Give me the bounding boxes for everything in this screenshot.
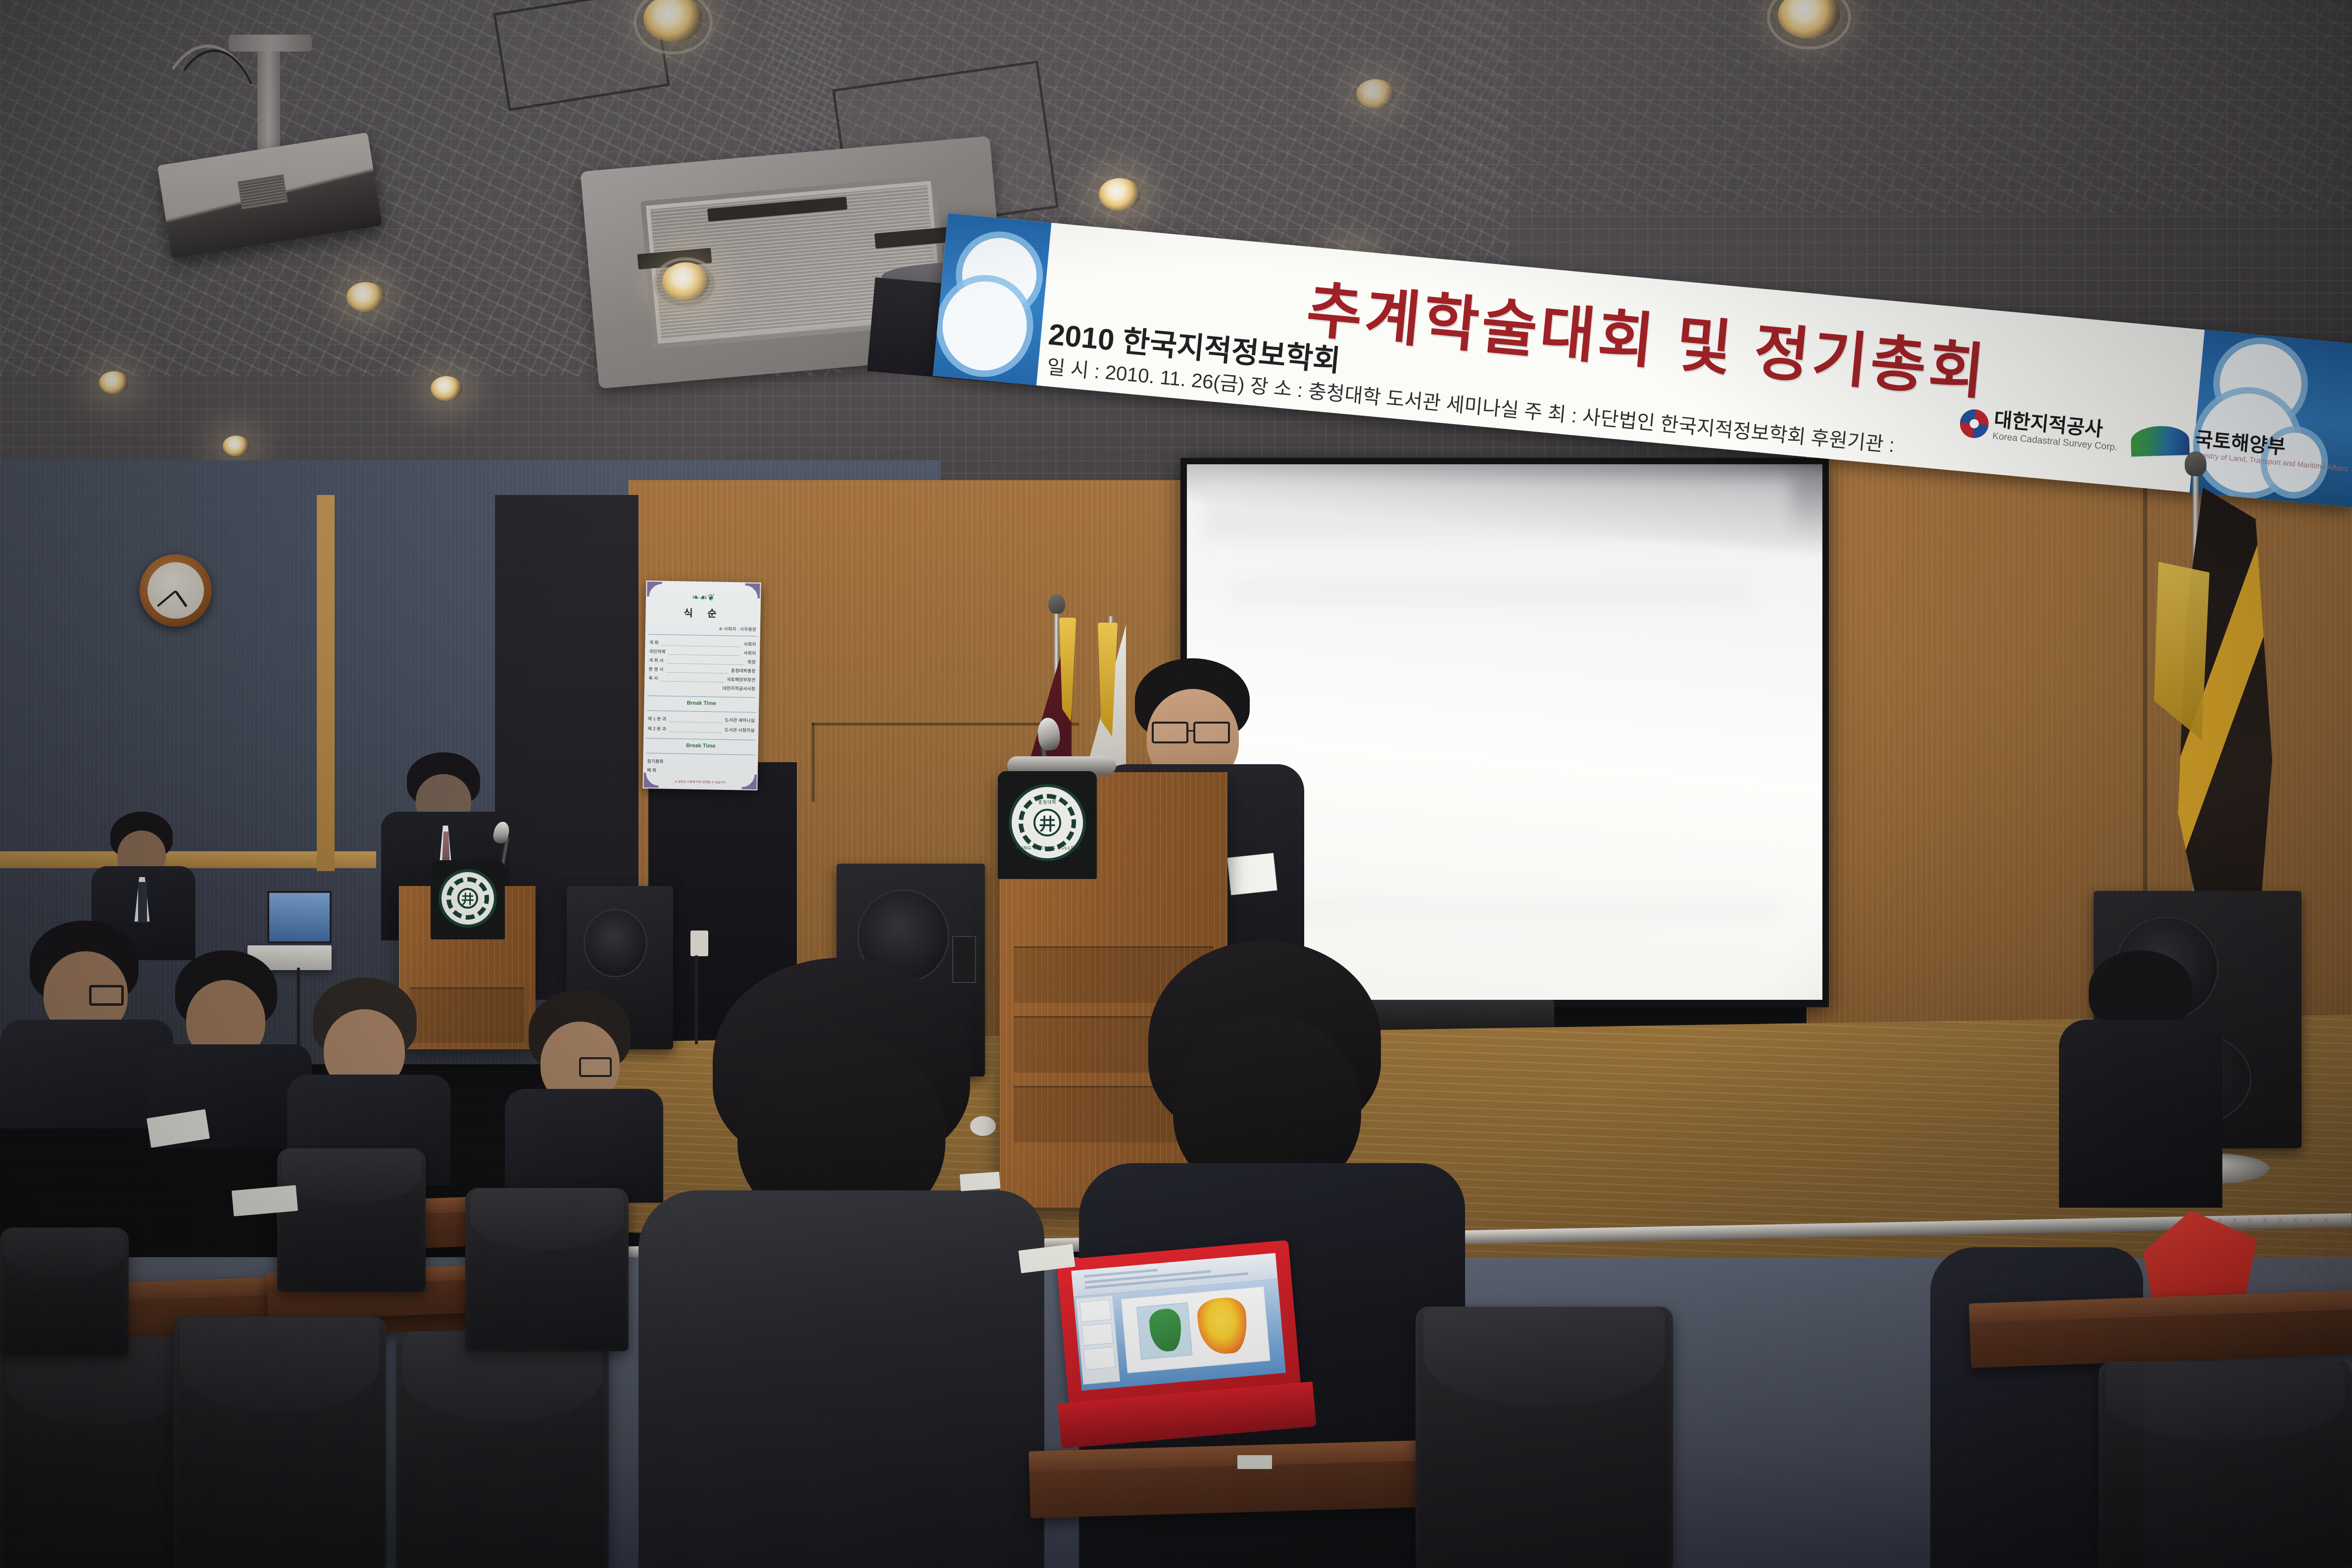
- downlight-4: [1099, 178, 1140, 211]
- poster-row-0-value: 사회자: [744, 640, 756, 647]
- downlight-3: [662, 262, 710, 301]
- poster-closing-row-1: 폐 회: [647, 767, 754, 775]
- poster-session-row-1-label: 제 2 분 과: [647, 725, 666, 732]
- seat-5-headrest: [282, 1148, 421, 1203]
- poster-session-row-0-leader: [669, 722, 722, 723]
- slide-thumbnail-2[interactable]: [1081, 1323, 1113, 1346]
- presenter-glasses-bridge: [1187, 730, 1195, 732]
- seat-1[interactable]: [0, 1336, 198, 1568]
- seat-5[interactable]: [277, 1148, 426, 1292]
- poster-row-3-leader: [666, 672, 728, 674]
- poster-break-label-2: Break Time: [643, 742, 758, 750]
- projector-mount-bracket: [229, 35, 312, 51]
- poster-row-0-leader: [661, 645, 740, 647]
- korea-heatmap-icon: [1196, 1296, 1249, 1356]
- ceiling-grid-panel-right: [1435, 0, 2352, 213]
- audience-person-foreground-laptop: [638, 958, 1044, 1568]
- poster-row-3-label: 환 영 사: [648, 666, 663, 673]
- presenter-name-badge: [1227, 853, 1277, 895]
- audience-1-glasses: [89, 985, 124, 1006]
- presentation-slide-pane[interactable]: [1076, 1295, 1120, 1384]
- poster-row-3-value: 충청대학총장: [731, 667, 756, 674]
- poster-divider-5: [646, 753, 755, 755]
- seat-7[interactable]: [2099, 1361, 2352, 1568]
- wall-trim-left-vertical: [317, 495, 335, 871]
- slide-thumbnail-1[interactable]: [1079, 1299, 1111, 1323]
- presentation-current-slide: [1121, 1286, 1271, 1373]
- seat-2-headrest: [180, 1317, 380, 1413]
- program-order-poster: ❧☙❦ 식 순 ※ 사회자 : 사무총장 개 회 사회자 국민의례 사회자 개 …: [642, 581, 761, 790]
- poster-row-1-label: 국민의례: [649, 648, 665, 655]
- poster-session-row-1-value: 도서관 시청각실: [725, 727, 755, 734]
- seat-7-headrest: [2106, 1361, 2344, 1440]
- seat-4[interactable]: [465, 1188, 629, 1351]
- downlight-7: [346, 282, 385, 312]
- molit-logo-icon: [2131, 425, 2190, 456]
- poster-row-3: 환 영 사 충청대학총장: [648, 666, 755, 674]
- poster-closing-row-1-label: 폐 회: [647, 767, 656, 773]
- wall-outlet-left: [690, 931, 708, 956]
- poster-row-4-value: 국토해양부장관: [727, 676, 755, 683]
- podium-center-emblem-glyph: 井: [1033, 809, 1061, 836]
- red-laptop[interactable]: [1056, 1240, 1304, 1448]
- presenter-glasses-right-lens: [1193, 722, 1230, 743]
- wood-wall-seam-center-v: [812, 723, 815, 802]
- poster-break-label-1: Break Time: [644, 699, 759, 707]
- podium-left-emblem-glyph: 井: [457, 888, 478, 909]
- downlight-10: [223, 436, 249, 456]
- seat-6-headrest: [1423, 1307, 1666, 1406]
- audience-person-right-suit: [2059, 950, 2222, 1208]
- flag-finial-right: [2185, 451, 2206, 476]
- operator-monitor: [267, 891, 332, 943]
- conference-hall-photo: 추계학술대회 및 정기총회 2010 한국지적정보학회 일 시 : 2010. …: [0, 0, 2352, 1568]
- poster-row-4: 축 사 국토해양부장관: [648, 675, 755, 683]
- audience-person-1: [0, 921, 173, 1128]
- poster-session-row-1-leader: [669, 732, 722, 733]
- poster-row-0-label: 개 회: [649, 639, 658, 645]
- audience-4-glasses: [579, 1057, 612, 1077]
- poster-row-4-label: 축 사: [648, 675, 658, 681]
- poster-row-2-value: 회장: [747, 659, 756, 665]
- paper-document-4: [960, 1172, 1000, 1191]
- poster-divider-3: [647, 710, 756, 713]
- seat-8[interactable]: [0, 1227, 129, 1356]
- presenter-glasses-left-lens: [1152, 722, 1188, 743]
- poster-row-1: 국민의례 사회자: [649, 648, 756, 656]
- poster-row-2-label: 개 회 사: [649, 657, 664, 664]
- poster-divider-1: [648, 634, 757, 637]
- seat-6[interactable]: [1416, 1307, 1673, 1568]
- poster-session-row-0-value: 도서관 세미나실: [725, 717, 755, 724]
- poster-ornament: ❧☙❦: [646, 591, 761, 604]
- poster-divider-2: [647, 695, 756, 698]
- podium-center-emblem-plate: 井 충청대학 CHUNG CHEONG COLLEGE: [998, 771, 1097, 879]
- poster-footer-note: ※ 일정은 사정에 따라 변경될 수 있습니다: [643, 779, 758, 785]
- poster-row-1-value: 사회자: [743, 649, 756, 656]
- poster-row-4-leader: [661, 681, 724, 683]
- poster-row-5: 대한지적공사사장: [648, 684, 755, 692]
- poster-session-row-0: 제 1 분 과 도서관 세미나실: [648, 715, 755, 724]
- poster-title: 식 순: [645, 604, 760, 621]
- podium-center-emblem-text-ko: 충청대학: [1012, 799, 1083, 805]
- kcsc-logo-icon: [1959, 408, 1990, 439]
- wall-clock: [140, 554, 212, 627]
- podium-center-emblem-text-en: CHUNG CHEONG COLLEGE: [1012, 845, 1083, 850]
- poster-row-2: 개 회 사 회장: [649, 657, 756, 665]
- screen-ghost-image-top: [1207, 479, 1791, 539]
- poster-row-1-leader: [668, 654, 740, 656]
- desk-foreground-right: [1969, 1290, 2352, 1368]
- poster-divider-4: [646, 738, 755, 740]
- flag-finial-left-a: [1048, 594, 1065, 614]
- laptop-lid: [1056, 1240, 1301, 1406]
- poster-session-row-1: 제 2 분 과 도서관 시청각실: [647, 725, 754, 734]
- podium-center-emblem: 井 충청대학 CHUNG CHEONG COLLEGE: [1009, 784, 1086, 861]
- poster-row-0: 개 회 사회자: [649, 639, 756, 647]
- banner-cloud-left-panel: [933, 213, 1052, 386]
- operator-monitor-screen: [269, 893, 330, 941]
- downlight-11: [1356, 79, 1395, 109]
- sponsor-logo-kcsc: 대한지적공사 Korea Cadastral Survey Corp.: [1959, 407, 2120, 452]
- foreground-laptop-person-torso: [638, 1190, 1044, 1568]
- seat-4-headrest: [470, 1188, 624, 1250]
- desk-tag-2: [1237, 1455, 1272, 1469]
- audience-1-torso: [0, 1020, 173, 1128]
- laptop-screen[interactable]: [1071, 1253, 1285, 1390]
- seat-2[interactable]: [173, 1317, 386, 1568]
- downlight-9: [99, 371, 129, 394]
- podium-left-emblem: 井: [439, 869, 497, 928]
- poster-host-note: ※ 사회자 : 사무총장: [719, 626, 756, 633]
- banner-cloud-right-panel: [2190, 330, 2352, 507]
- right-suit-hair: [2089, 950, 2193, 1029]
- right-suit-torso: [2059, 1020, 2222, 1208]
- poster-closing-row-0: 정기총회: [647, 758, 754, 766]
- seat-3[interactable]: [396, 1331, 609, 1568]
- screen-ghost-image-mid: [1231, 578, 1751, 608]
- seat-8-headrest: [4, 1227, 125, 1276]
- poster-closing-row-0-label: 정기총회: [647, 758, 663, 765]
- poster-row-2-leader: [667, 663, 745, 665]
- downlight-8: [431, 376, 462, 401]
- desk-foreground-center: [1029, 1439, 1466, 1519]
- slide-thumbnail-3[interactable]: [1083, 1347, 1115, 1370]
- podium-left-emblem-plate: 井: [431, 860, 505, 939]
- poster-session-row-0-label: 제 1 분 과: [648, 715, 667, 722]
- audience-far-left-tie: [138, 882, 147, 923]
- poster-row-5-value: 대한지적공사사장: [723, 685, 755, 692]
